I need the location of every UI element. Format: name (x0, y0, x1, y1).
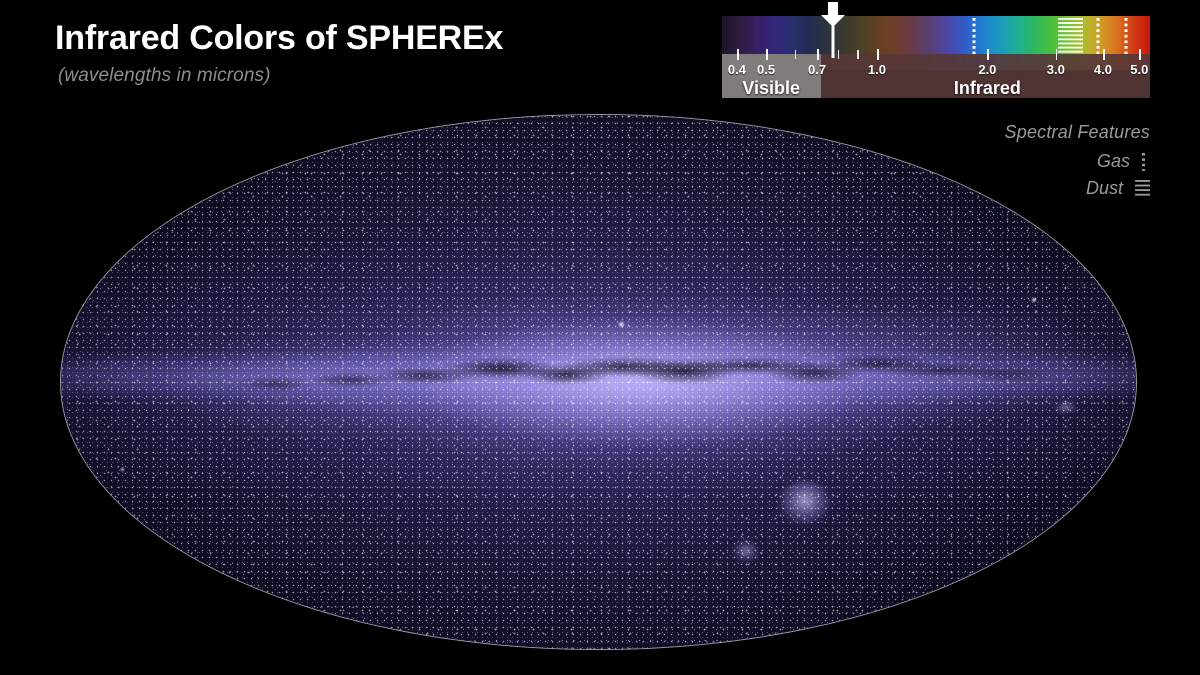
legend-item-dust[interactable]: Dust (1005, 178, 1150, 199)
spectrum-tick (1056, 49, 1058, 60)
legend-item-gas-label: Gas (1097, 151, 1130, 172)
vertical-dotted-line-icon (1142, 153, 1145, 171)
spectrum-tick (817, 49, 819, 60)
title-block: Infrared Colors of SPHEREx (wavelengths … (55, 20, 503, 87)
visible-band-label: Visible (742, 78, 800, 99)
spectrum-tick-label: 1.0 (868, 62, 886, 77)
spectrum-tick (987, 49, 989, 60)
spectrum-tick (766, 49, 768, 60)
spectrum-tick-label: 4.0 (1094, 62, 1112, 77)
spectrum-tick (857, 50, 859, 59)
page-title: Infrared Colors of SPHEREx (55, 20, 503, 57)
page-subtitle: (wavelengths in microns) (58, 65, 503, 87)
dust-feature-marker (1058, 18, 1083, 54)
spectrum-tick (877, 49, 879, 60)
spectrum-tick (795, 50, 797, 59)
spectrum-tick (1103, 49, 1105, 60)
sky-ellipse-frame (60, 114, 1137, 650)
vignette-layer (60, 114, 1137, 650)
spectrum-tick-label: 2.0 (978, 62, 996, 77)
spectrum-tick-label: 0.5 (757, 62, 775, 77)
wavelength-pointer-arrow[interactable] (820, 2, 846, 44)
spectrum-legend[interactable]: 0.40.50.71.02.03.04.05.0 VisibleInfrared (722, 16, 1150, 98)
spectrum-tick-label: 3.0 (1047, 62, 1065, 77)
horizontal-stripes-icon (1135, 180, 1150, 197)
legend-item-dust-label: Dust (1086, 178, 1123, 199)
gas-feature-marker (1096, 18, 1099, 54)
spectrum-tick-label: 0.4 (728, 62, 746, 77)
gas-feature-marker (972, 18, 975, 54)
spectrum-tick (838, 50, 840, 59)
arrow-shaft (832, 24, 835, 58)
gas-feature-marker (1125, 18, 1128, 54)
spectrum-tick (1139, 49, 1141, 60)
spectrum-tick-label: 5.0 (1130, 62, 1148, 77)
infrared-band-label: Infrared (954, 78, 1021, 99)
spectrum-tick (737, 49, 739, 60)
spectral-features-legend: Spectral Features Gas Dust (1005, 122, 1150, 199)
spectral-features-title: Spectral Features (1005, 122, 1150, 143)
spectrum-tick-label: 0.7 (808, 62, 826, 77)
legend-item-gas[interactable]: Gas (1005, 151, 1150, 172)
sky-map[interactable] (60, 114, 1137, 650)
